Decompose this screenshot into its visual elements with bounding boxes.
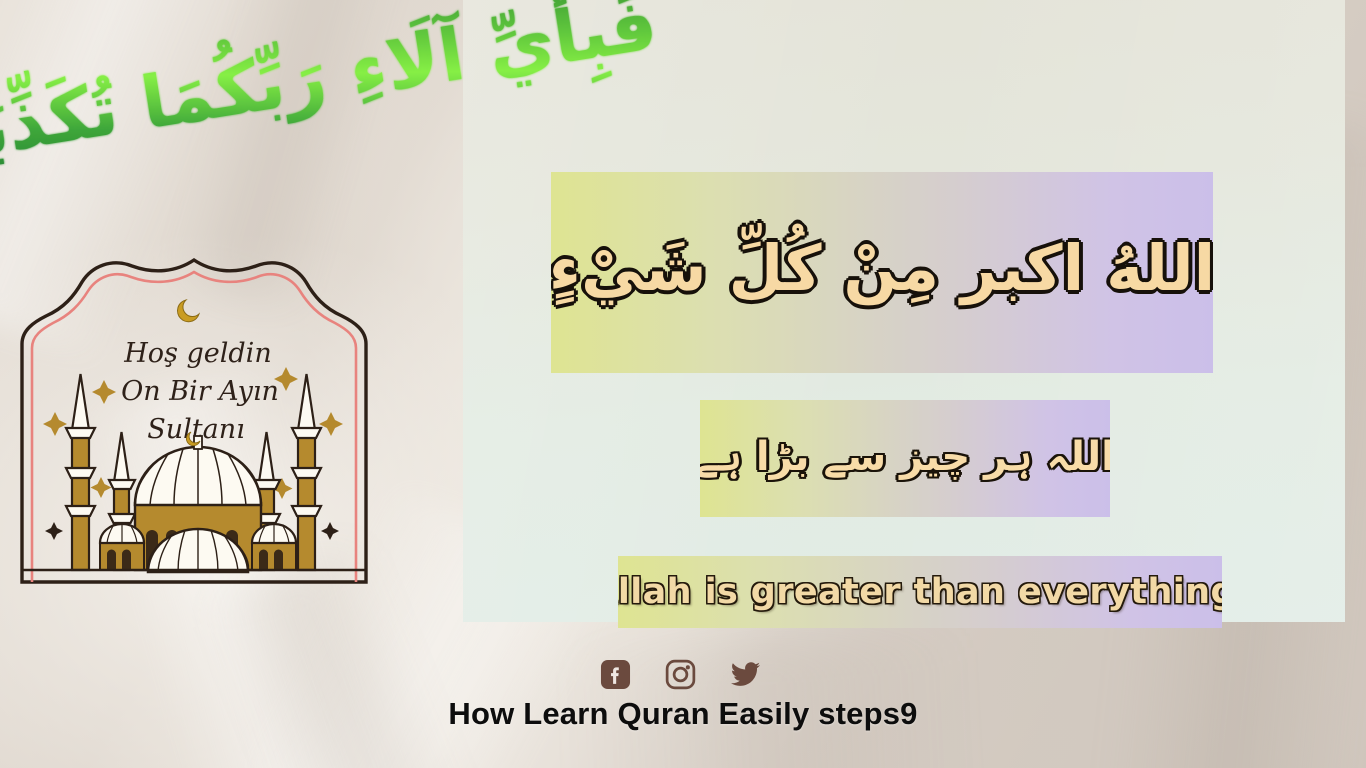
minaret-outer-left	[66, 374, 95, 570]
arabic-phrase-band: اللهُ اكبر مِنْ كُلِّ شَيْءٍ	[551, 172, 1213, 373]
facebook-icon[interactable]	[600, 659, 631, 690]
english-translation-band: Allah is greater than everything.	[618, 556, 1222, 628]
side-cupola-left	[100, 524, 144, 570]
page-title: How Learn Quran Easily steps9	[0, 696, 1366, 732]
instagram-icon[interactable]	[665, 659, 696, 690]
greeting-line-1: Hoş geldin	[123, 338, 271, 369]
greeting-line-2: On Bir Ayın	[121, 376, 279, 407]
side-cupola-right	[252, 524, 296, 570]
urdu-translation-text: اللہ ہر چیز سے بڑا ہے	[700, 434, 1110, 484]
urdu-translation-band: اللہ ہر چیز سے بڑا ہے	[700, 400, 1110, 517]
twitter-icon[interactable]	[730, 659, 761, 690]
english-translation-text: Allah is greater than everything.	[618, 572, 1222, 612]
ramadan-mosque-illustration: Hoş geldin On Bir Ayın Sultanı	[8, 252, 388, 590]
arabic-phrase-text: اللهُ اكبر مِنْ كُلِّ شَيْءٍ	[551, 236, 1213, 308]
social-links-bar	[600, 657, 768, 691]
content-panel: اللهُ اكبر مِنْ كُلِّ شَيْءٍ اللہ ہر چیز…	[463, 0, 1345, 622]
crescent-moon-icon	[178, 300, 199, 322]
quran-verse-calligraphy: فَبِأَيِّ آلَاءِ رَبِّكُمَا تُكَذِّبَانِ	[68, 8, 480, 148]
